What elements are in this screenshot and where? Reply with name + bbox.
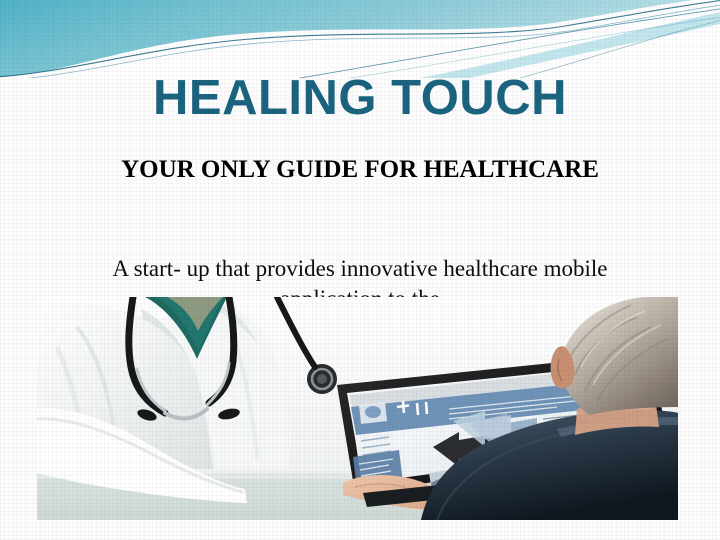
slide-subtitle: YOUR ONLY GUIDE FOR HEALTHCARE [120,154,600,186]
header-wave-svg [0,0,720,78]
slide-photo [37,297,678,520]
presentation-slide: HEALING TOUCH YOUR ONLY GUIDE FOR HEALTH… [0,0,720,540]
slide-title: HEALING TOUCH [0,74,720,123]
header-wave-decoration [0,0,720,78]
photo-illustration [37,297,678,520]
